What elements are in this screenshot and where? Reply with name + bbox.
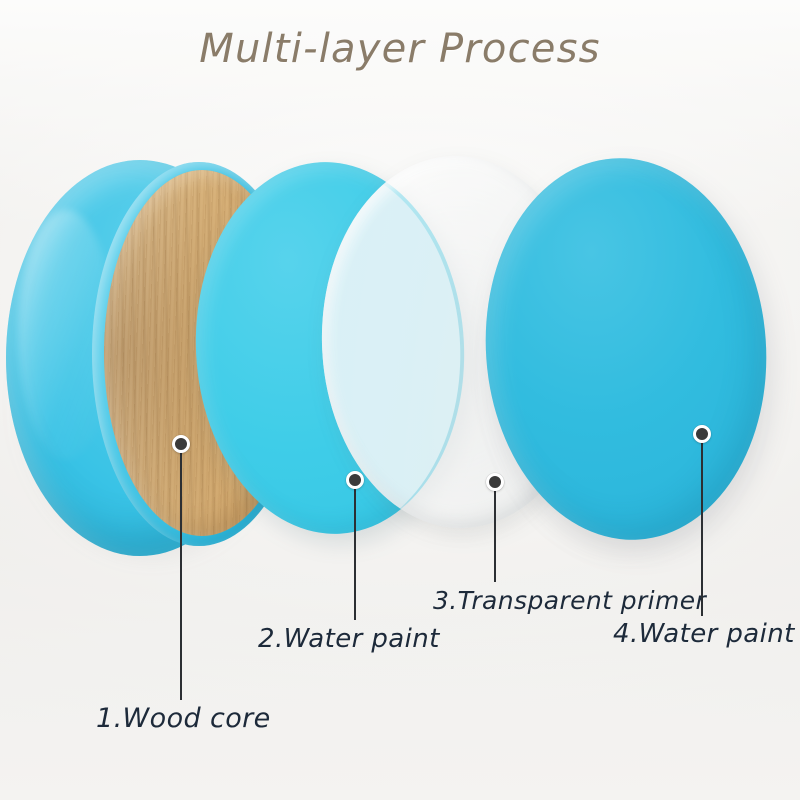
callout-label-1: 1.Wood core bbox=[96, 703, 271, 734]
callout-line-1 bbox=[180, 453, 182, 700]
layer-stack-illustration bbox=[0, 0, 800, 800]
callout-label-2: 2.Water paint bbox=[258, 624, 440, 654]
callout-dot-4[interactable] bbox=[693, 425, 711, 443]
callout-line-2 bbox=[354, 489, 356, 620]
callout-label-4: 4.Water paint bbox=[613, 619, 795, 649]
callout-dot-3[interactable] bbox=[486, 473, 504, 491]
callout-label-3: 3.Transparent primer bbox=[433, 586, 706, 615]
callout-dot-1[interactable] bbox=[172, 435, 190, 453]
multi-layer-process-infographic: Multi-layer Process 1.Wood core 2.Water … bbox=[0, 0, 800, 800]
callout-line-4 bbox=[701, 443, 703, 616]
callout-line-3 bbox=[494, 491, 496, 582]
callout-dot-2[interactable] bbox=[346, 471, 364, 489]
